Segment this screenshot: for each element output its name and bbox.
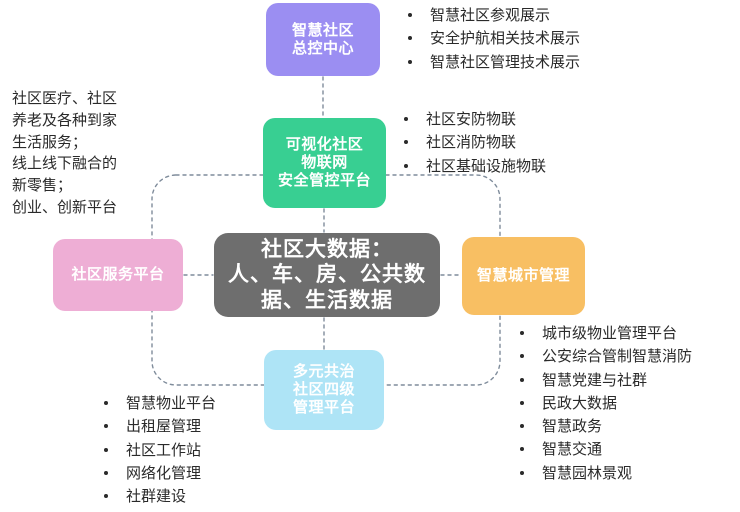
list-item: 社区消防物联 bbox=[400, 131, 546, 154]
node-green-line-3: 安全管控平台 bbox=[278, 172, 371, 190]
node-green-line-2: 物联网 bbox=[278, 154, 371, 172]
annotation-line: 社区医疗、社区 bbox=[12, 88, 117, 110]
bullet-list-iot-platform: 社区安防物联 社区消防物联 社区基础设施物联 bbox=[400, 108, 546, 178]
node-community-big-data[interactable]: 社区大数据： 人、车、房、公共数 据、生活数据 bbox=[214, 233, 440, 317]
annotation-community-services: 社区医疗、社区 养老及各种到家 生活服务； 线上线下融合的 新零售； 创业、创新… bbox=[12, 88, 117, 219]
list-item: 智慧社区参观展示 bbox=[404, 4, 580, 27]
node-left-line-1: 社区服务平台 bbox=[71, 266, 164, 284]
list-item: 安全护航相关技术展示 bbox=[404, 27, 580, 50]
list-item: 城市级物业管理平台 bbox=[516, 322, 692, 345]
list-item: 智慧物业平台 bbox=[100, 392, 216, 415]
list-item: 智慧政务 bbox=[516, 415, 692, 438]
node-center-line-1: 社区大数据： bbox=[228, 237, 426, 263]
list-item: 智慧党建与社群 bbox=[516, 369, 692, 392]
node-center-line-2: 人、车、房、公共数 bbox=[228, 262, 426, 288]
annotation-line: 生活服务； bbox=[12, 132, 117, 154]
node-right-label: 智慧城市管理 bbox=[477, 267, 570, 285]
annotation-line: 养老及各种到家 bbox=[12, 110, 117, 132]
node-bottom-line-2: 社区四级 bbox=[293, 381, 355, 399]
annotation-line: 新零售； bbox=[12, 175, 117, 197]
smart-community-architecture-diagram: 社区大数据： 人、车、房、公共数 据、生活数据 智慧社区 总控中心 可视化社区 … bbox=[0, 0, 740, 512]
node-smart-city-management[interactable]: 智慧城市管理 bbox=[462, 237, 585, 315]
node-center-line-3: 据、生活数据 bbox=[228, 288, 426, 314]
list-item: 社区基础设施物联 bbox=[400, 155, 546, 178]
node-right-line-1: 智慧城市管理 bbox=[477, 267, 570, 285]
node-top-line-2: 总控中心 bbox=[292, 40, 354, 58]
annotation-line: 线上线下融合的 bbox=[12, 153, 117, 175]
node-top-label: 智慧社区 总控中心 bbox=[292, 22, 354, 57]
list-item: 社区工作站 bbox=[100, 439, 216, 462]
list-item: 网络化管理 bbox=[100, 462, 216, 485]
node-green-line-1: 可视化社区 bbox=[278, 136, 371, 154]
list-item: 出租屋管理 bbox=[100, 415, 216, 438]
node-community-service-platform[interactable]: 社区服务平台 bbox=[53, 239, 183, 311]
node-bottom-line-1: 多元共治 bbox=[293, 363, 355, 381]
list-item: 公安综合管制智慧消防 bbox=[516, 345, 692, 368]
node-center-label: 社区大数据： 人、车、房、公共数 据、生活数据 bbox=[228, 237, 426, 314]
list-item: 民政大数据 bbox=[516, 392, 692, 415]
list-item: 社群建设 bbox=[100, 485, 216, 508]
list-item: 智慧园林景观 bbox=[516, 462, 692, 485]
node-four-level-community-management-platform[interactable]: 多元共治 社区四级 管理平台 bbox=[264, 350, 384, 430]
bullet-list-control-center: 智慧社区参观展示 安全护航相关技术展示 智慧社区管理技术展示 bbox=[404, 4, 580, 74]
node-bottom-label: 多元共治 社区四级 管理平台 bbox=[293, 363, 355, 416]
node-smart-community-control-center[interactable]: 智慧社区 总控中心 bbox=[266, 3, 380, 76]
node-left-label: 社区服务平台 bbox=[71, 266, 164, 284]
node-bottom-line-3: 管理平台 bbox=[293, 399, 355, 417]
node-green-label: 可视化社区 物联网 安全管控平台 bbox=[278, 136, 371, 189]
bullet-list-smart-city: 城市级物业管理平台 公安综合管制智慧消防 智慧党建与社群 民政大数据 智慧政务 … bbox=[516, 322, 692, 485]
bullet-list-community-management: 智慧物业平台 出租屋管理 社区工作站 网络化管理 社群建设 bbox=[100, 392, 216, 508]
node-visual-community-iot-platform[interactable]: 可视化社区 物联网 安全管控平台 bbox=[263, 118, 386, 208]
list-item: 智慧社区管理技术展示 bbox=[404, 51, 580, 74]
list-item: 智慧交通 bbox=[516, 438, 692, 461]
node-top-line-1: 智慧社区 bbox=[292, 22, 354, 40]
list-item: 社区安防物联 bbox=[400, 108, 546, 131]
annotation-line: 创业、创新平台 bbox=[12, 197, 117, 219]
